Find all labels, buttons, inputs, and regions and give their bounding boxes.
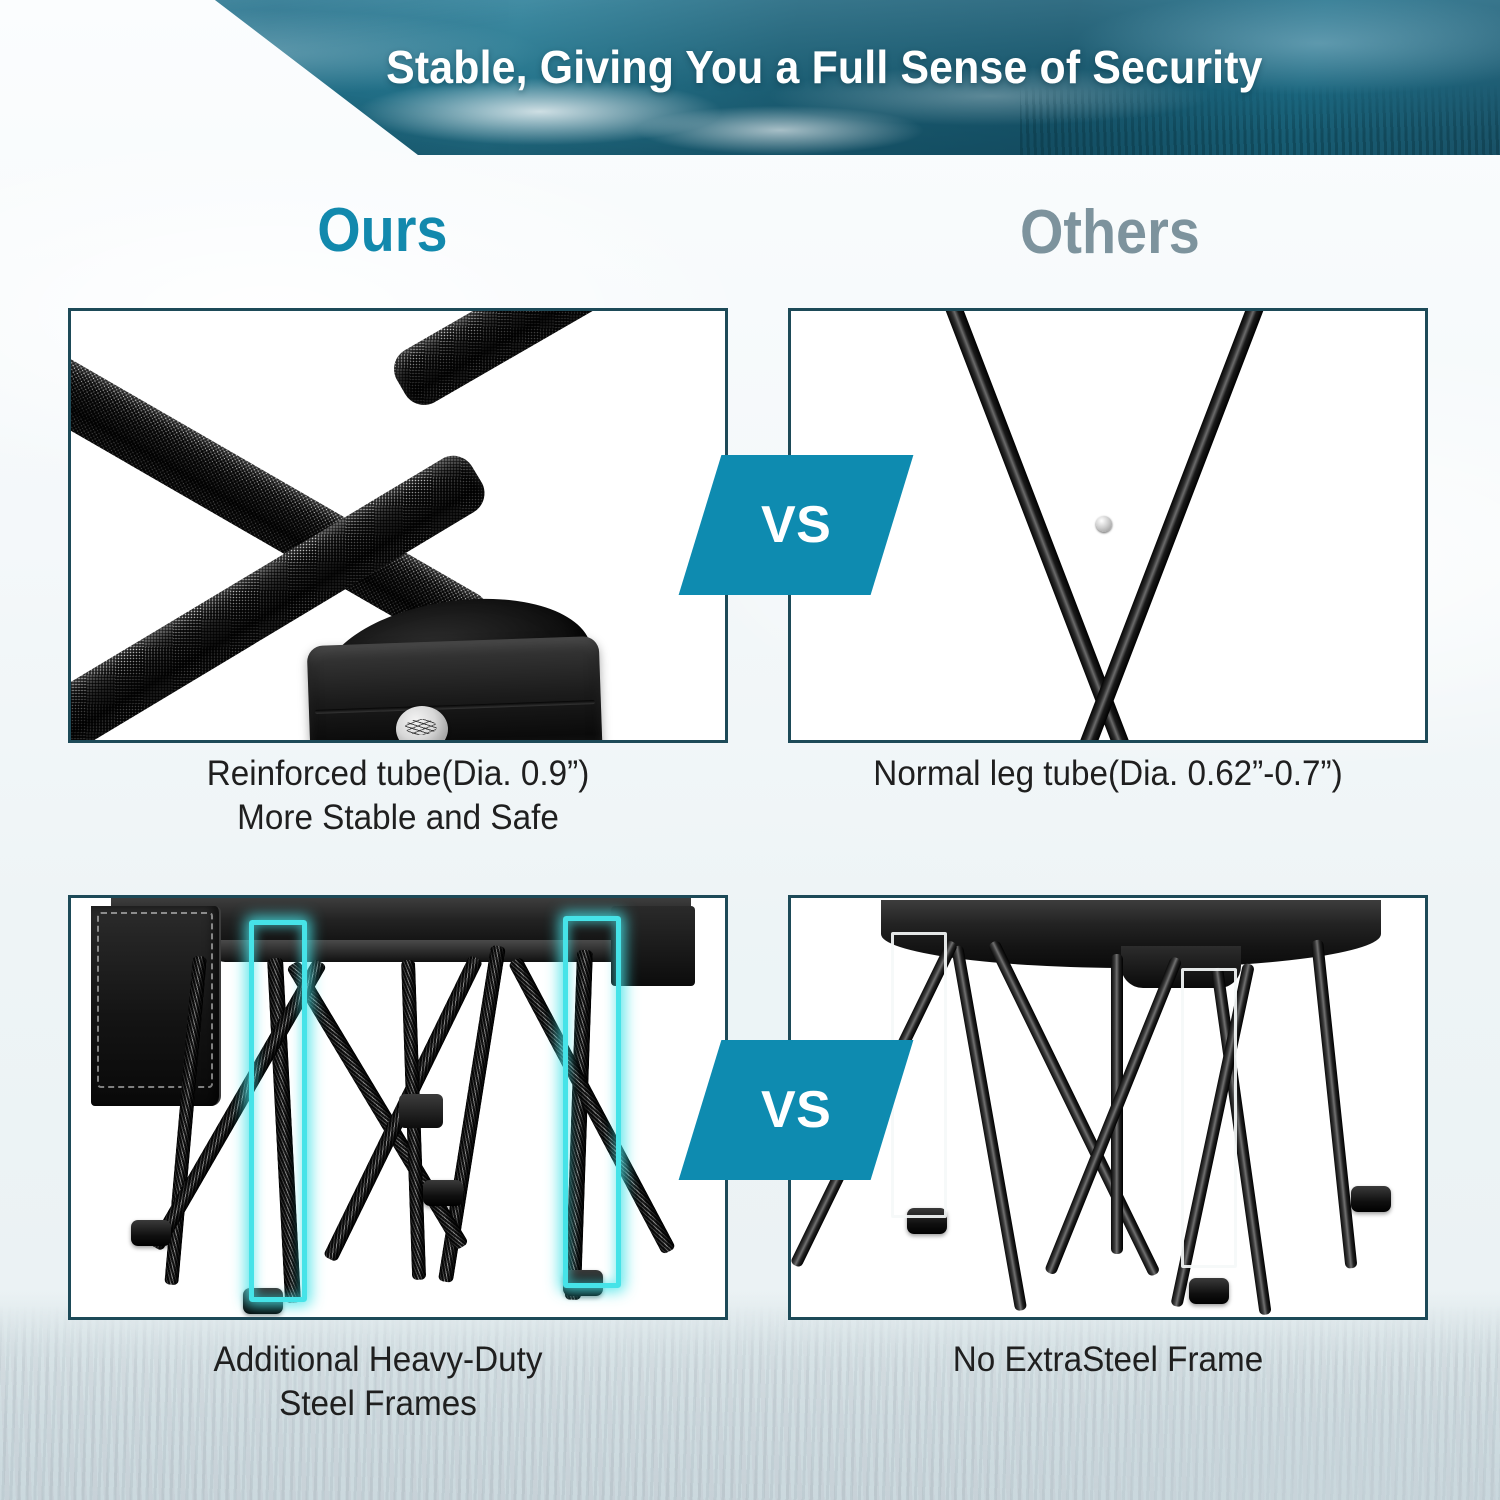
caption-others-no-steel-frame: No ExtraSteel Frame	[804, 1338, 1412, 1382]
thin-tube-rivet-icon	[1096, 516, 1112, 532]
column-heading-ours: Ours	[317, 200, 447, 262]
outline-box-missing-right-frame	[1181, 968, 1237, 1268]
column-heading-others: Others	[1020, 202, 1200, 264]
banner-treeline	[1020, 85, 1500, 155]
chair-right-pocket	[611, 906, 695, 986]
chair-foot-center	[423, 1180, 463, 1206]
panel-ours-steel-frames	[68, 895, 728, 1320]
others-foot-center	[1189, 1278, 1229, 1304]
chair-center-joint	[399, 1094, 443, 1128]
others-foot-right	[1351, 1186, 1391, 1212]
caption-others-normal-tube: Normal leg tube(Dia. 0.62”-0.7”)	[804, 752, 1412, 796]
highlight-box-left-steel-frame	[249, 920, 307, 1302]
infographic-page: Stable, Giving You a Full Sense of Secur…	[0, 0, 1500, 1500]
chair-foot-far-left	[131, 1220, 171, 1246]
hub-connector-block	[307, 636, 604, 740]
caption-ours-reinforced-tube: Reinforced tube(Dia. 0.9”) More Stable a…	[85, 752, 712, 840]
thick-tube-upper-right	[386, 311, 725, 413]
others-leg-far-right	[1311, 939, 1357, 1268]
vs-badge-top-label: VS	[761, 495, 831, 555]
panel-ours-reinforced-tube	[68, 308, 728, 743]
ours-tube-photo	[71, 311, 725, 740]
vs-badge-bottom-label: VS	[761, 1080, 831, 1140]
hub-seam-line	[315, 700, 595, 714]
ours-chair-photo	[71, 898, 725, 1317]
highlight-box-right-steel-frame	[563, 916, 621, 1288]
banner-title: Stable, Giving You a Full Sense of Secur…	[53, 40, 1448, 94]
caption-ours-steel-frames: Additional Heavy-Duty Steel Frames	[65, 1338, 692, 1426]
